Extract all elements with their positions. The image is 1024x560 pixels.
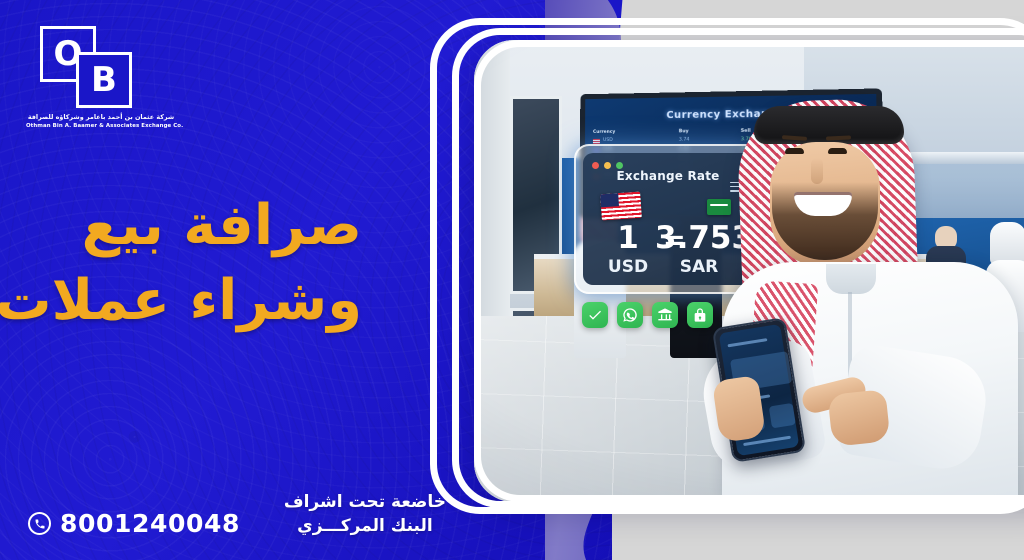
minimize-window-icon[interactable] <box>604 162 611 169</box>
exchange-from-currency: USD <box>597 257 659 277</box>
phone-handset-icon <box>28 512 51 535</box>
man-nose <box>811 158 823 184</box>
headline: صرافة بيع وشراء عملات <box>0 188 362 338</box>
man-eye-left <box>785 148 804 154</box>
man-left-hand <box>712 375 766 443</box>
central-bank-supervision-note: خاضعة تحت اشراف البنك المركـــزي <box>284 490 446 538</box>
headline-line-1: صرافة بيع <box>82 193 362 258</box>
exchange-amount: 1 <box>597 223 659 254</box>
whatsapp-icon[interactable] <box>617 302 643 328</box>
cb-note-line-2: البنك المركـــزي <box>284 514 446 538</box>
board-header-currency: Currency <box>593 129 615 138</box>
logo-square-b: B <box>76 52 132 108</box>
man-right-hand <box>827 389 890 447</box>
headline-line-2: وشراء عملات <box>0 263 362 338</box>
cb-note-line-1: خاضعة تحت اشراف <box>284 490 446 514</box>
bank-icon[interactable] <box>652 302 678 328</box>
phone-ui-line <box>727 338 767 347</box>
logo-marks: O B <box>40 26 158 106</box>
usa-flag-icon <box>600 192 642 221</box>
trust-badge-row <box>582 302 713 328</box>
phone-ui-card <box>769 403 796 428</box>
close-window-icon[interactable] <box>592 162 599 169</box>
hero-photo: Currency Exchange Currency USD EUR GBP A… <box>474 40 1024 502</box>
logo-name-english: Othman Bin A. Baamer & Associates Exchan… <box>26 123 176 129</box>
board-header-buy: Buy <box>679 128 693 137</box>
banner-root: O B شركة عثمان بن أحمد باعامر وشركاؤه لل… <box>0 0 1024 560</box>
check-mark-icon[interactable] <box>582 302 608 328</box>
man-collar <box>826 264 876 294</box>
window-traffic-lights[interactable] <box>592 162 623 169</box>
maximize-window-icon[interactable] <box>616 162 623 169</box>
phone-contact-badge[interactable]: 8001240048 <box>28 509 240 538</box>
logo-name-arabic: شركة عثمان بن أحمد باعامر وشركاؤه للصراف… <box>26 113 176 121</box>
foreground-man-with-phone <box>698 96 1018 502</box>
man-eye-right <box>828 148 847 154</box>
company-logo[interactable]: O B شركة عثمان بن أحمد باعامر وشركاؤه لل… <box>26 26 226 129</box>
phone-number: 8001240048 <box>60 509 240 538</box>
